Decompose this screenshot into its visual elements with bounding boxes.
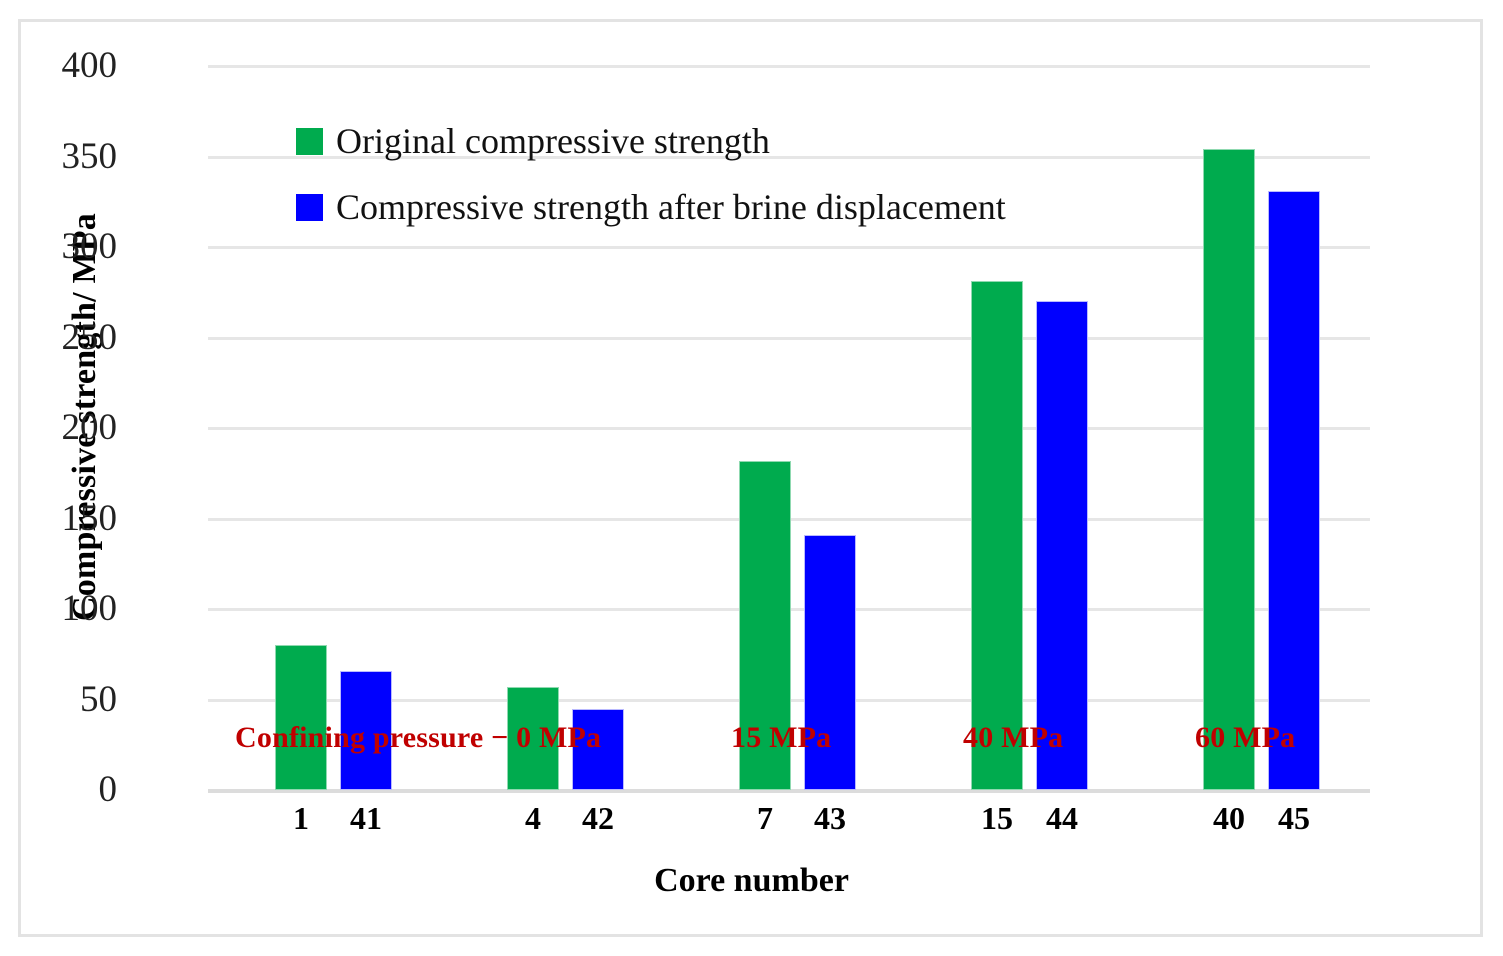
x-tick-label-42: 42	[553, 800, 643, 837]
chart-figure: Compressive strength/ MPa Core number 40…	[0, 0, 1503, 956]
legend-swatch-original-icon	[296, 128, 323, 155]
x-tick-label-41: 41	[321, 800, 411, 837]
gridline-250	[208, 337, 1370, 340]
annotation-group-3: 15 MPa	[731, 721, 831, 755]
legend-label-brine: Compressive strength after brine displac…	[336, 189, 1006, 225]
bar-original-core-40[interactable]	[1203, 149, 1255, 790]
y-tick-label-200: 200	[0, 409, 117, 446]
y-tick-label-250: 250	[0, 319, 117, 356]
y-tick-label-50: 50	[0, 681, 117, 718]
x-axis-title: Core number	[0, 862, 1503, 900]
y-tick-label-350: 350	[0, 138, 117, 175]
bar-original-core-1[interactable]	[275, 645, 327, 790]
legend-label-original: Original compressive strength	[336, 123, 770, 159]
legend-swatch-brine-icon	[296, 194, 323, 221]
chart-legend: Original compressive strength Compressiv…	[296, 108, 1006, 240]
gridline-200	[208, 427, 1370, 430]
bar-brine-core-45[interactable]	[1268, 191, 1320, 790]
y-tick-label-300: 300	[0, 228, 117, 265]
legend-item-original[interactable]: Original compressive strength	[296, 108, 1006, 174]
x-tick-label-45: 45	[1249, 800, 1339, 837]
y-tick-label-150: 150	[0, 500, 117, 537]
x-tick-label-43: 43	[785, 800, 875, 837]
y-tick-label-400: 400	[0, 47, 117, 84]
gridline-400	[208, 65, 1370, 68]
annotation-group-1: Confining pressure − 0 MPa	[235, 721, 601, 755]
annotation-group-4: 40 MPa	[963, 721, 1063, 755]
annotation-group-5: 60 MPa	[1195, 721, 1295, 755]
y-tick-label-0: 0	[0, 771, 117, 808]
bar-brine-core-44[interactable]	[1036, 301, 1088, 790]
x-tick-label-44: 44	[1017, 800, 1107, 837]
legend-item-brine[interactable]: Compressive strength after brine displac…	[296, 174, 1006, 240]
bar-original-core-15[interactable]	[971, 281, 1023, 790]
gridline-300	[208, 246, 1370, 249]
y-tick-label-100: 100	[0, 590, 117, 627]
